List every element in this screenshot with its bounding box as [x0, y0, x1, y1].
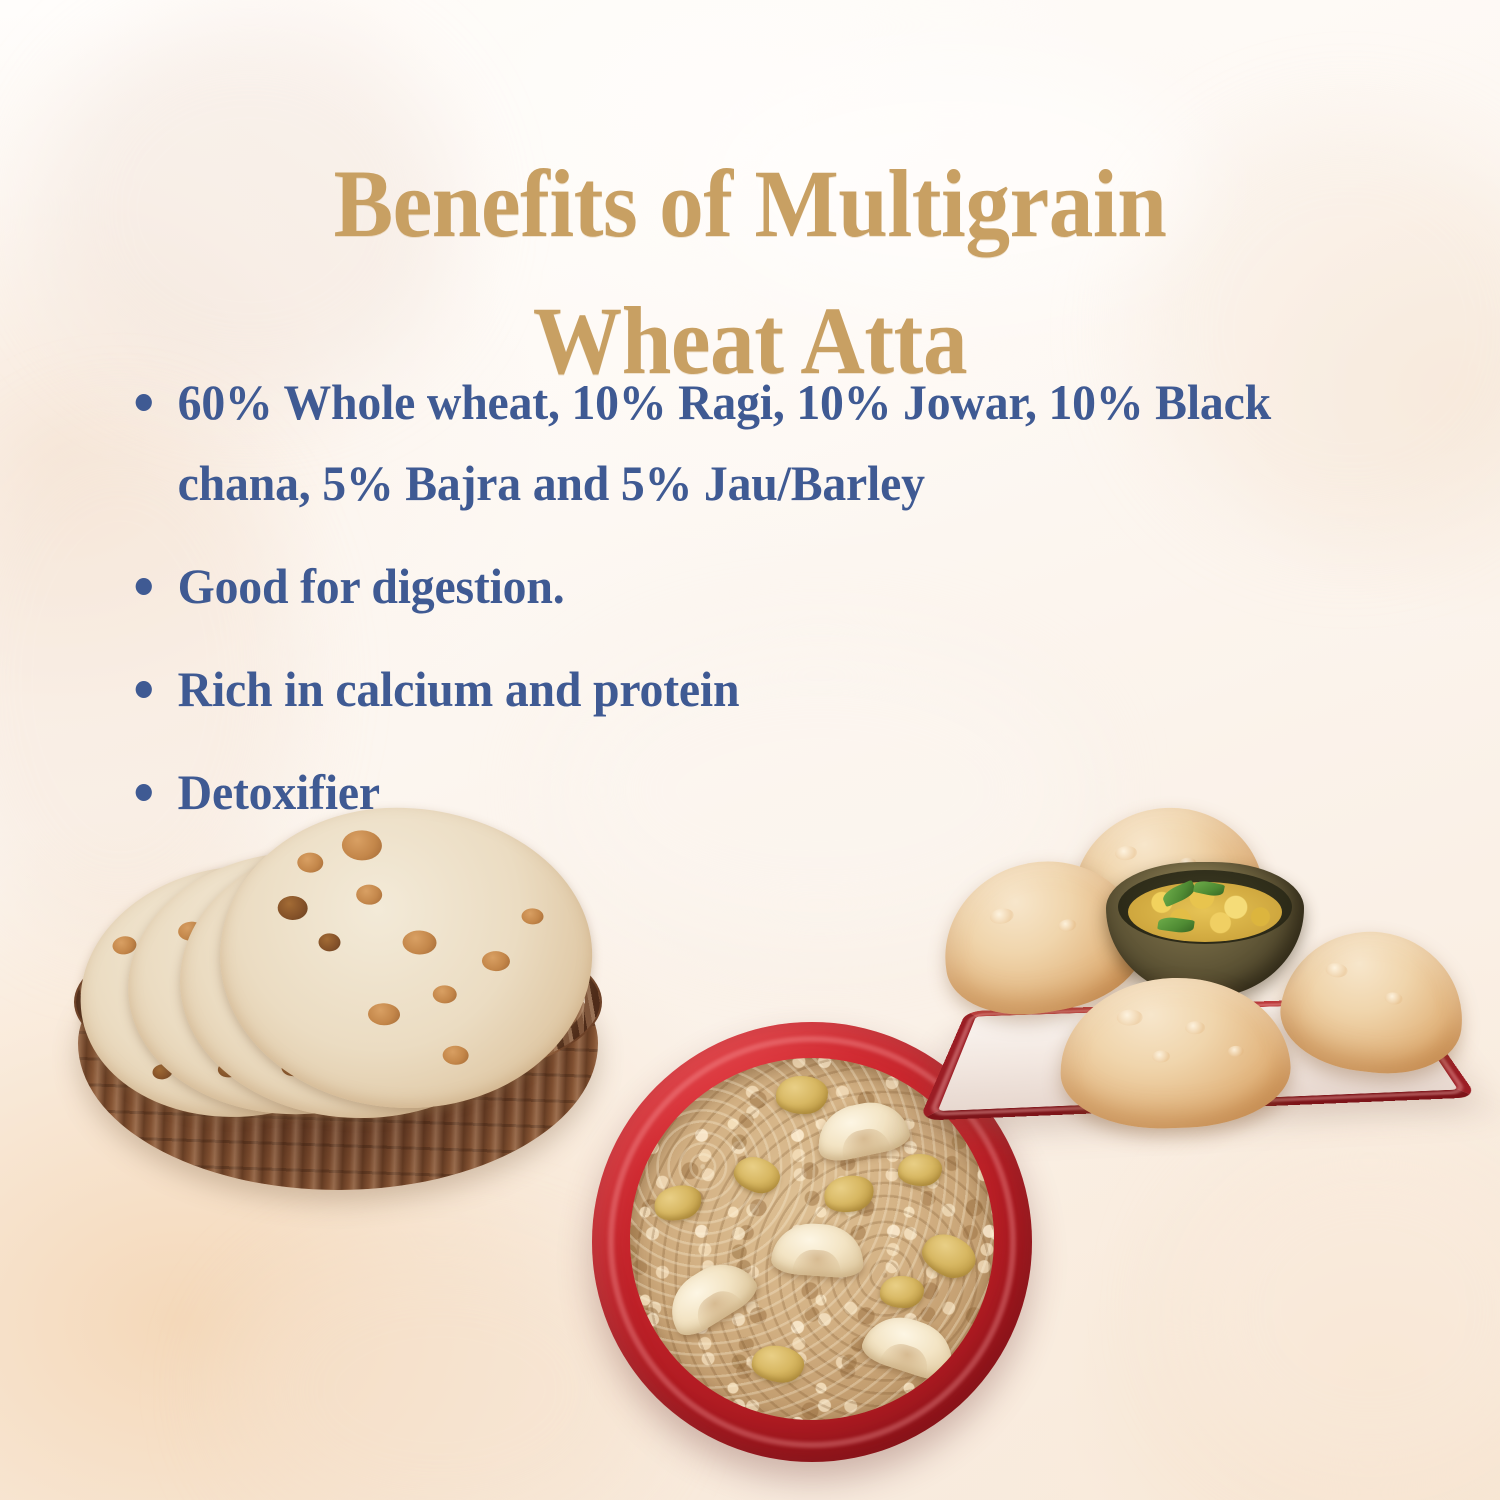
puri-tray-caption: Puri with potato bhaji on red tray	[930, 800, 931, 801]
list-item: 60% Whole wheat, 10% Ragi, 10% Jowar, 10…	[128, 362, 1285, 524]
benefits-list: 60% Whole wheat, 10% Ragi, 10% Jowar, 10…	[128, 362, 1328, 833]
infographic-poster: Benefits of Multigrain Wheat Atta 60% Wh…	[0, 0, 1500, 1500]
bullet-dot-icon	[136, 681, 152, 698]
bullet-dot-icon	[136, 784, 152, 801]
page-title-line-1: Benefits of Multigrain	[53, 136, 1448, 272]
list-item: Good for digestion.	[128, 546, 1274, 627]
bhaji-bowl	[1106, 862, 1304, 998]
halwa-bowl-caption: Atta halwa / sheera in red bowl	[592, 1022, 593, 1023]
puri-tray-image: Puri with potato bhaji on red tray	[930, 800, 1470, 1200]
list-item: Rich in calcium and protein	[128, 649, 1274, 730]
list-item-label: 60% Whole wheat, 10% Ragi, 10% Jowar, 10…	[178, 374, 1271, 511]
list-item-label: Good for digestion.	[178, 558, 565, 614]
raisin	[880, 1276, 924, 1308]
bullet-dot-icon	[136, 578, 152, 595]
bhaji-bowl-mouth	[1118, 870, 1292, 944]
background-blotch	[230, 1240, 650, 1500]
bullet-dot-icon	[136, 394, 152, 411]
list-item-label: Rich in calcium and protein	[178, 661, 740, 717]
roti-basket-image: Roti / chapati in wicker basket	[70, 800, 610, 1200]
roti-basket-caption: Roti / chapati in wicker basket	[70, 800, 71, 801]
raisin	[776, 1076, 828, 1114]
